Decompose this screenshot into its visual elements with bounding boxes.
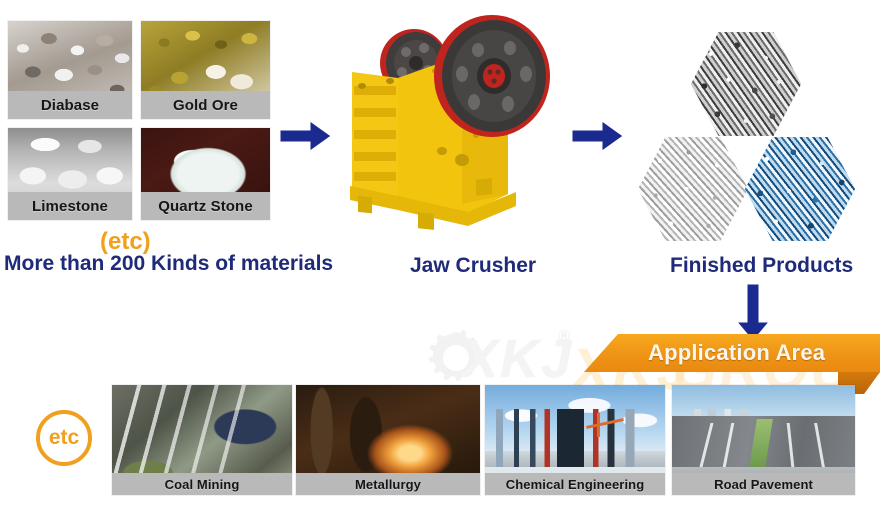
material-tile-limestone[interactable]: Limestone [8,128,132,220]
application-tile-label: Chemical Engineering [485,473,665,495]
materials-caption: More than 200 Kinds of materials [4,252,333,276]
material-tile-label: Limestone [8,192,132,220]
arrow-right-icon-2 [572,120,624,152]
material-tile-label: Quartz Stone [141,192,270,220]
finished-products-label: Finished Products [670,254,853,278]
application-tile-metallurgy[interactable]: Metallurgy [296,385,480,495]
watermark-registered: ® [558,328,572,346]
gear-icon [424,326,488,390]
application-tile-coal-mining[interactable]: Coal Mining [112,385,292,495]
application-tile-road-pavement[interactable]: Road Pavement [672,385,855,495]
material-tile-quartz-stone[interactable]: Quartz Stone [141,128,270,220]
product-hexagon-coarse-gray [691,30,801,138]
application-tile-label: Coal Mining [112,473,292,495]
arrow-right-icon-1 [280,120,332,152]
material-tile-diabase[interactable]: Diabase [8,21,132,119]
application-tile-label: Metallurgy [296,473,480,495]
application-tile-chemical-engineering[interactable]: Chemical Engineering [485,385,665,495]
jaw-crusher-image [340,8,570,238]
material-tile-gold-ore[interactable]: Gold Ore [141,21,270,119]
product-hexagon-blue [745,135,855,243]
material-tile-label: Diabase [8,91,132,119]
application-tile-label: Road Pavement [672,473,855,495]
jaw-crusher-label: Jaw Crusher [410,254,536,278]
arrow-down-icon [736,284,770,342]
application-etc-badge: etc [36,410,92,466]
process-flow-diagram: XKJ ® XKJ GROUP Diabase Gold Ore Limesto… [0,0,880,508]
application-area-label: Application Area [648,340,868,366]
material-tile-label: Gold Ore [141,91,270,119]
product-hexagon-light-gray [638,135,748,243]
watermark-brand: XKJ [462,328,573,390]
